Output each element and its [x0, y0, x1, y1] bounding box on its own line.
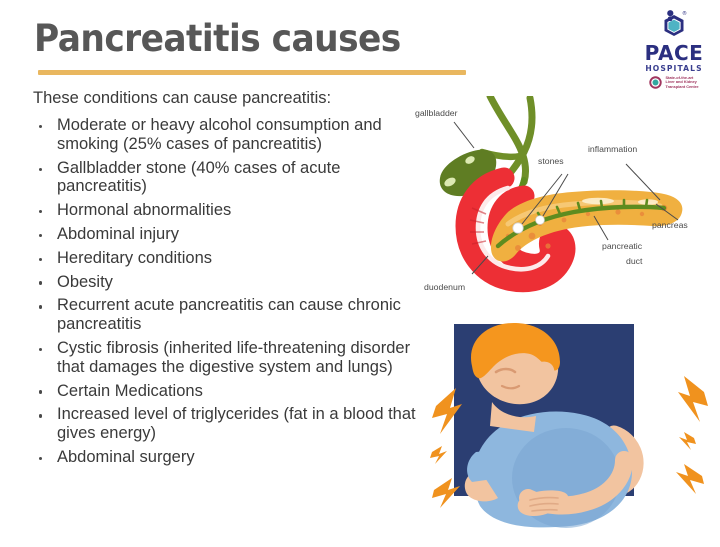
- svg-text:®: ®: [682, 10, 687, 17]
- accreditation-seal-icon: [649, 76, 662, 89]
- pancreas-anatomy-graphic: [412, 96, 720, 301]
- causes-list: Moderate or heavy alcohol consumption an…: [33, 116, 428, 472]
- bullet-dot-icon: [39, 414, 42, 417]
- bullet-dot-icon: [39, 390, 42, 393]
- title-underline-rule: [38, 70, 466, 75]
- list-item: Abdominal surgery: [33, 448, 428, 467]
- abdominal-pain-graphic: [418, 310, 718, 547]
- label-stones: stones: [538, 156, 564, 166]
- label-pancreatic-duct-line2: duct: [626, 256, 642, 266]
- bullet-dot-icon: [39, 168, 42, 171]
- list-item-label: Moderate or heavy alcohol consumption an…: [57, 116, 382, 153]
- bullet-dot-icon: [39, 258, 42, 261]
- pace-hospitals-logo: ® PACE HOSPITALS State-of-the-art Liver …: [632, 8, 716, 90]
- logo-tagline: State-of-the-art Liver and Kidney Transp…: [665, 76, 698, 90]
- list-item-label: Recurrent acute pancreatitis can cause c…: [57, 296, 401, 333]
- bullet-dot-icon: [39, 457, 42, 460]
- bullet-dot-icon: [39, 348, 42, 351]
- list-item: Moderate or heavy alcohol consumption an…: [33, 116, 428, 154]
- bullet-dot-icon: [39, 234, 42, 237]
- list-item-label: Increased level of triglycerides (fat in…: [57, 405, 416, 442]
- list-item-label: Abdominal surgery: [57, 448, 195, 466]
- list-item: Hereditary conditions: [33, 249, 428, 268]
- label-inflammation: inflammation: [588, 144, 637, 154]
- abdominal-pain-illustration: [418, 310, 718, 547]
- pain-bolts-right: [676, 376, 708, 494]
- bullet-dot-icon: [39, 210, 42, 213]
- logo-subtitle: HOSPITALS: [632, 65, 716, 73]
- label-pancreatic-duct: pancreatic: [602, 241, 642, 251]
- list-item-label: Abdominal injury: [57, 225, 179, 243]
- list-item: Cystic fibrosis (inherited life-threaten…: [33, 339, 428, 377]
- pace-logo-mark-icon: ®: [657, 8, 691, 42]
- list-item: Obesity: [33, 273, 428, 292]
- list-item: Hormonal abnormalities: [33, 201, 428, 220]
- infographic-page: Pancreatitis causes ® PACE HOSPITALS Sta…: [0, 0, 720, 547]
- logo-wordmark: PACE: [632, 43, 716, 63]
- list-item-label: Hormonal abnormalities: [57, 201, 231, 219]
- label-pancreas: pancreas: [652, 220, 688, 230]
- pancreas-anatomy-illustration: gallbladder stones inflammation pancreas…: [412, 96, 720, 306]
- list-item-label: Hereditary conditions: [57, 249, 212, 267]
- list-item-label: Certain Medications: [57, 382, 203, 400]
- page-title: Pancreatitis causes: [34, 17, 401, 60]
- list-item-label: Gallbladder stone (40% cases of acute pa…: [57, 159, 340, 196]
- logo-tagline-line3: Transplant Centre: [665, 85, 698, 90]
- bullet-dot-icon: [39, 125, 42, 128]
- bullet-dot-icon: [39, 305, 42, 308]
- list-item: Certain Medications: [33, 382, 428, 401]
- list-item-label: Cystic fibrosis (inherited life-threaten…: [57, 339, 410, 376]
- list-item: Gallbladder stone (40% cases of acute pa…: [33, 159, 428, 197]
- label-gallbladder: gallbladder: [415, 108, 458, 118]
- list-item: Recurrent acute pancreatitis can cause c…: [33, 296, 428, 334]
- logo-tagline-row: State-of-the-art Liver and Kidney Transp…: [632, 76, 716, 90]
- list-item: Increased level of triglycerides (fat in…: [33, 405, 428, 443]
- bullet-dot-icon: [39, 281, 42, 284]
- label-duodenum: duodenum: [424, 282, 465, 292]
- list-item-label: Obesity: [57, 273, 113, 291]
- list-item: Abdominal injury: [33, 225, 428, 244]
- intro-text: These conditions can cause pancreatitis:: [33, 89, 331, 108]
